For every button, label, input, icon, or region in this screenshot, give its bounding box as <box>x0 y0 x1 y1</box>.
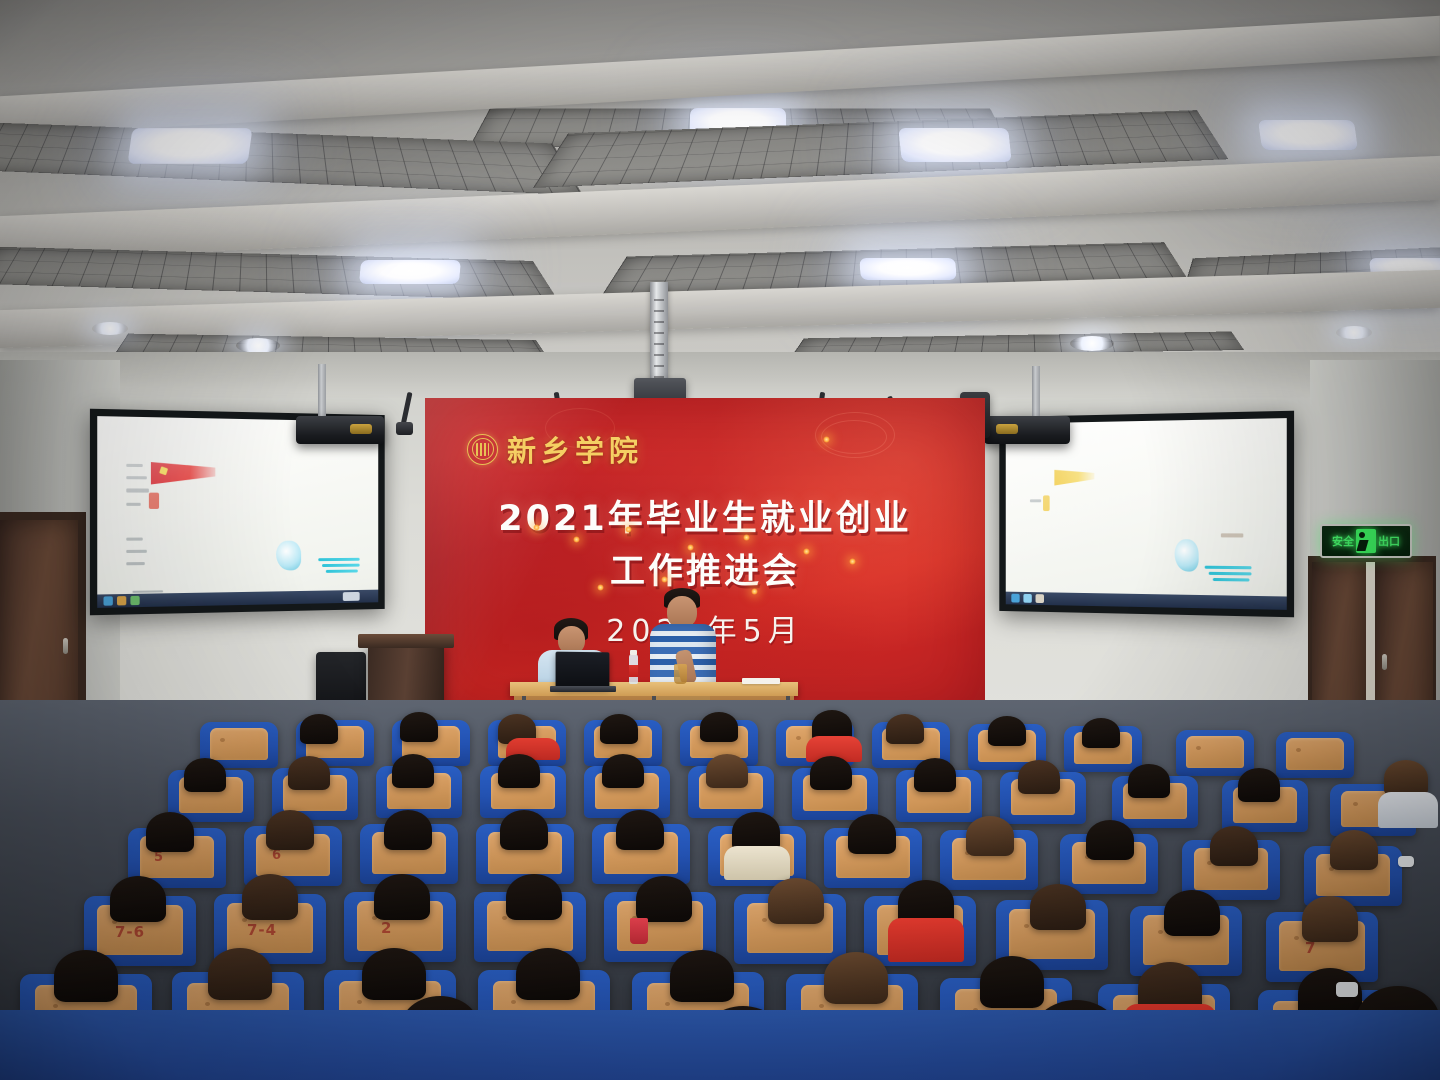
audience-member <box>184 758 226 792</box>
banner-light-spark <box>533 524 540 531</box>
banner-light-spark <box>751 588 758 595</box>
slide-wave-graphic <box>322 564 360 567</box>
projector-lens-icon <box>996 424 1018 434</box>
slide-text-line <box>126 476 147 479</box>
audience-member <box>616 810 664 850</box>
wall-upper-strip <box>0 352 1440 398</box>
projector-lens-icon <box>350 424 372 434</box>
banner-headline-line-2: 工作推进会 <box>425 543 985 594</box>
slide-text-line <box>1221 533 1243 537</box>
audience-member <box>300 714 338 744</box>
auditorium-photo: 安全 出口 <box>0 0 1440 1080</box>
slide-figure-graphic <box>1175 539 1199 572</box>
slide-wave-graphic <box>326 570 358 573</box>
exit-label-right: 出口 <box>1378 533 1400 549</box>
banner-light-spark <box>803 548 810 555</box>
audience-member <box>602 754 644 788</box>
audience-member <box>500 810 548 850</box>
running-person-exit-icon <box>1356 529 1376 553</box>
seat-back <box>1286 738 1344 770</box>
left-projector <box>296 416 384 444</box>
seat-back <box>210 728 268 760</box>
slide-figure-graphic <box>276 541 301 571</box>
ceiling <box>0 0 1440 400</box>
taskbar-icon <box>1011 594 1019 603</box>
slide-red-marker <box>149 493 159 509</box>
audience-member <box>1384 760 1428 796</box>
audience-member <box>636 876 692 922</box>
audience-member <box>1210 826 1258 866</box>
slide-text-line <box>126 503 140 506</box>
audience-member <box>400 712 438 742</box>
audience-member <box>1128 764 1170 798</box>
audience-member <box>1164 890 1220 936</box>
exit-label-left: 安全 <box>1332 533 1354 549</box>
slide-taskbar <box>1006 592 1287 610</box>
taskbar-icon <box>1036 594 1044 603</box>
audience-member <box>110 876 166 922</box>
audience-member <box>966 816 1014 856</box>
audience-member <box>670 950 734 1002</box>
slide-text-line <box>1030 499 1041 502</box>
seat-number: 2 <box>381 919 392 937</box>
audience-member <box>1330 830 1378 870</box>
downlight <box>1070 336 1114 351</box>
banner-light-spark <box>573 536 580 543</box>
taskbar-clock <box>343 592 360 601</box>
seat-number: 7-4 <box>247 921 277 939</box>
downlight <box>1336 326 1372 339</box>
laptop <box>556 652 610 689</box>
laptop-base <box>550 686 616 692</box>
taskbar-icon <box>130 596 139 605</box>
audience-member <box>810 756 852 790</box>
taskbar-icon <box>1023 594 1031 603</box>
recessed-panel-light <box>898 128 1012 162</box>
audience-member <box>886 714 924 744</box>
face-mask <box>1398 856 1414 867</box>
slide-text-line <box>126 464 142 467</box>
projector-mount-arm <box>318 364 326 416</box>
university-name: 新乡学院 <box>507 428 643 470</box>
taskbar-icon <box>117 596 126 605</box>
audience-member <box>362 948 426 1000</box>
audience-member <box>1302 896 1358 942</box>
banner-light-spark <box>849 558 856 565</box>
audience-member <box>1030 884 1086 930</box>
audience-cup <box>630 918 648 944</box>
banner-light-spark <box>823 436 830 443</box>
university-seal-icon <box>467 434 498 465</box>
slide-wave-graphic <box>1213 578 1250 582</box>
audience-member <box>1238 768 1280 802</box>
slide-marker <box>1043 495 1050 511</box>
banner-light-spark <box>661 576 668 583</box>
banner-headline-line-1: 2021年毕业生就业创业 <box>425 490 985 541</box>
slide-wave-graphic <box>1205 566 1252 570</box>
audience-member <box>54 950 118 1002</box>
banner-light-spark <box>687 544 694 551</box>
audience-member <box>506 874 562 920</box>
center-ceiling-mount-pole <box>650 282 668 390</box>
recessed-panel-light <box>359 260 461 284</box>
banner-texture-wave <box>821 420 887 454</box>
audience-member <box>288 756 330 790</box>
audience-member <box>384 810 432 850</box>
slide-text-line <box>126 538 142 541</box>
banner-light-spark <box>743 534 750 541</box>
audience-member <box>1086 820 1134 860</box>
ceiling-coffer <box>0 247 558 301</box>
audience-member <box>600 714 638 744</box>
recessed-panel-light <box>859 258 957 280</box>
bottle-cap <box>630 650 637 655</box>
audience-member <box>706 754 748 788</box>
projector-mount-arm <box>1032 366 1040 416</box>
left-screen-surface <box>97 416 378 608</box>
door-handle-icon <box>1382 654 1387 670</box>
audience-member <box>498 754 540 788</box>
right-projector <box>984 416 1070 444</box>
slide-text-line <box>126 488 149 492</box>
downlight <box>236 338 280 353</box>
audience-member <box>824 952 888 1004</box>
audience-member <box>374 874 430 920</box>
university-logo-row: 新乡学院 <box>467 428 643 470</box>
slide-flag-graphic <box>1054 469 1094 485</box>
audience-member <box>1082 718 1120 748</box>
right-screen-surface <box>1006 418 1287 610</box>
audience-member <box>266 810 314 850</box>
front-floor-strip <box>0 1010 1440 1080</box>
audience-member <box>516 948 580 1000</box>
water-bottle <box>629 654 638 684</box>
slide-wave-graphic <box>1209 572 1252 576</box>
drink-cup <box>674 664 687 684</box>
slide-wave-graphic <box>318 558 359 561</box>
audience-member <box>208 948 272 1000</box>
flag-star-icon <box>159 466 168 475</box>
emergency-exit-sign: 安全 出口 <box>1320 524 1412 558</box>
audience-member <box>768 878 824 924</box>
audience-member <box>700 712 738 742</box>
audience-member <box>392 754 434 788</box>
audience-shirt <box>888 918 964 962</box>
recessed-panel-light <box>1258 120 1358 150</box>
audience-member <box>1018 760 1060 794</box>
seat-number: 5 <box>154 850 164 865</box>
recessed-panel-light <box>127 128 252 164</box>
taskbar-icon <box>103 596 112 605</box>
spotlight-head <box>396 422 413 435</box>
face-mask <box>1336 982 1358 997</box>
lectern-top <box>358 634 454 648</box>
audience-member <box>988 716 1026 746</box>
audience-member <box>242 874 298 920</box>
seat-number: 6 <box>272 848 282 863</box>
audience-shirt <box>724 846 790 880</box>
audience-member <box>914 758 956 792</box>
downlight <box>92 322 128 335</box>
audience-member <box>980 956 1044 1008</box>
seat-number: 7-6 <box>115 923 145 941</box>
audience-member <box>848 814 896 854</box>
audience-member <box>146 812 194 852</box>
slide-text-line <box>126 562 144 565</box>
seat-back <box>1186 736 1244 768</box>
slide-text-line <box>126 550 147 553</box>
table-papers <box>742 678 780 684</box>
audience-shirt <box>1378 792 1438 828</box>
slide-flag-graphic <box>151 462 215 485</box>
door-handle-icon <box>63 638 68 654</box>
banner-light-spark <box>625 526 632 533</box>
banner-light-spark <box>597 584 604 591</box>
